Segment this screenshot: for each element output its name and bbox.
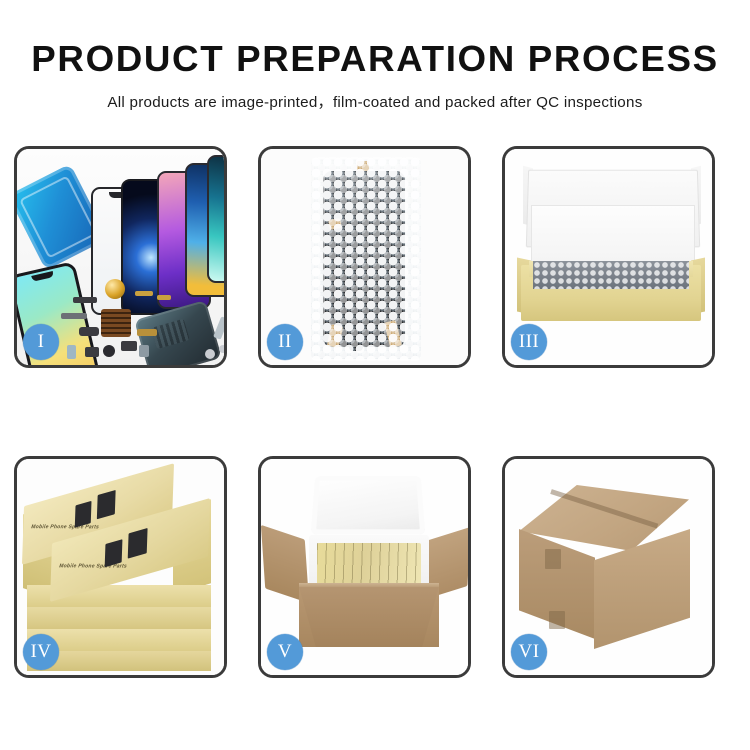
process-step-1: I [14, 146, 227, 368]
carton-front-face [299, 587, 439, 647]
stacked-box-layer [27, 607, 211, 629]
chip-grid-icon [101, 309, 131, 337]
spare-part-icon [73, 297, 97, 303]
spare-part-icon [139, 345, 149, 357]
screw-icon [205, 349, 215, 359]
spare-part-icon [157, 295, 171, 300]
screw-icon [219, 345, 224, 353]
step-badge-4: IV [23, 634, 59, 670]
spare-part-icon [61, 313, 87, 319]
spare-part-icon [135, 291, 153, 296]
step-badge-2: II [267, 324, 303, 360]
process-step-5: V [258, 456, 471, 678]
page-title: PRODUCT PREPARATION PROCESS [0, 40, 750, 78]
spare-part-icon [103, 345, 115, 357]
box-label-text: Mobile Phone Spare Parts [30, 524, 100, 530]
foam-sheet-icon [531, 205, 695, 269]
bubble-wrap-fill-icon [533, 261, 689, 289]
gold-component-icon [105, 279, 125, 299]
spare-part-icon [121, 341, 137, 351]
step-badge-3: III [511, 324, 547, 360]
page-subtitle: All products are image-printed，film-coat… [0, 90, 750, 112]
process-step-3: III [502, 146, 715, 368]
process-step-grid: I II [14, 146, 736, 678]
box-label-swatch [97, 490, 116, 519]
bubble-wrap-highlight [311, 157, 421, 361]
carton-tape-icon [545, 549, 561, 569]
spare-part-icon [79, 327, 99, 336]
page-header: PRODUCT PREPARATION PROCESS All products… [0, 0, 750, 112]
carton-tape-icon [549, 611, 565, 629]
spare-part-icon [137, 329, 157, 336]
box-label-text: Mobile Phone Spare Parts [58, 563, 128, 569]
box-label-swatch [128, 528, 148, 559]
phone-screen-teal-icon [207, 155, 224, 283]
spare-part-icon [85, 347, 99, 357]
product-preparation-page: PRODUCT PREPARATION PROCESS All products… [0, 0, 750, 750]
step-badge-1: I [23, 324, 59, 360]
step-badge-5: V [267, 634, 303, 670]
spare-part-icon [67, 345, 76, 359]
process-step-6: VI [502, 456, 715, 678]
process-step-2: II [258, 146, 471, 368]
step-badge-6: VI [511, 634, 547, 670]
process-step-4: Mobile Phone Spare Parts Mobile Phone Sp… [14, 456, 227, 678]
styrofoam-lid-icon [311, 476, 426, 534]
